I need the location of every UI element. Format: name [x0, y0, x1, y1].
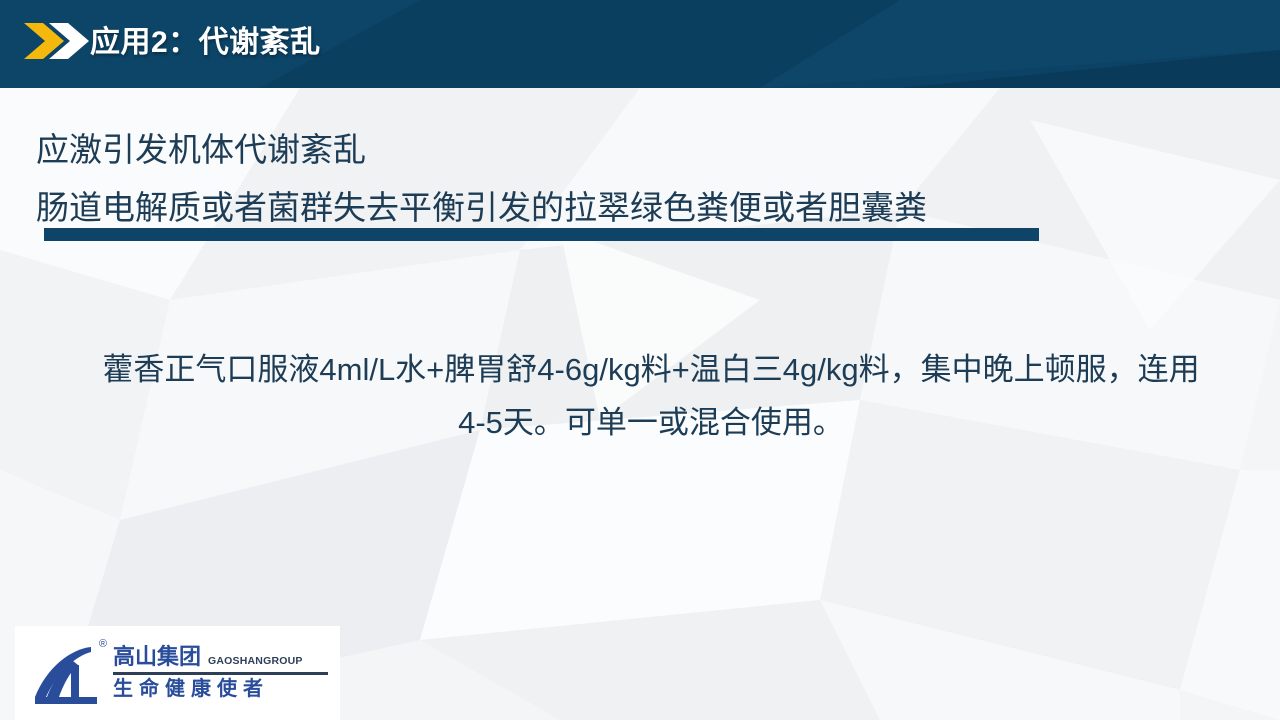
logo-divider	[113, 672, 328, 675]
emphasis-underline-bar	[44, 228, 1039, 241]
slide-canvas: 应用2：代谢紊乱 应激引发机体代谢紊乱 肠道电解质或者菌群失去平衡引发的拉翠绿色…	[0, 0, 1280, 720]
body-paragraph: 藿香正气口服液4ml/L水+脾胃舒4-6g/kg料+温白三4g/kg料，集中晚上…	[96, 343, 1206, 450]
logo-text-block: 高山集团 GAOSHANGROUP 生命健康使者	[113, 646, 328, 701]
company-logo: ® 高山集团 GAOSHANGROUP 生命健康使者	[15, 626, 340, 720]
logo-slogan: 生命健康使者	[113, 678, 328, 701]
lead-line-2: 肠道电解质或者菌群失去平衡引发的拉翠绿色粪便或者胆囊粪	[36, 191, 927, 224]
gaoshan-mark-icon: ®	[31, 641, 105, 705]
logo-name-row: 高山集团 GAOSHANGROUP	[113, 646, 328, 670]
logo-company-name-en: GAOSHANGROUP	[208, 656, 303, 668]
registered-trademark-icon: ®	[99, 639, 107, 650]
header-chevron-group	[24, 19, 90, 63]
slide-header-bar: 应用2：代谢紊乱	[0, 0, 1280, 88]
logo-company-name-cn: 高山集团	[113, 646, 201, 668]
page-title: 应用2：代谢紊乱	[90, 17, 321, 61]
lead-line-1: 应激引发机体代谢紊乱	[36, 133, 366, 166]
